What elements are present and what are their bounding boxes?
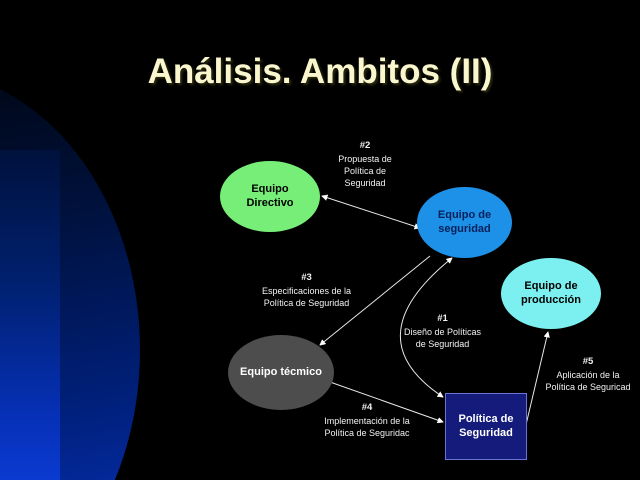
- slide-canvas: Análisis. Ambitos (II) EquipoDirectivo E…: [0, 0, 640, 480]
- edge-label-1: #1 Diseño de Políticas de Seguridad: [385, 313, 500, 350]
- edge-label-3: #3 Especificaciones de la Política de Se…: [244, 272, 369, 309]
- connector-2: [322, 196, 420, 228]
- node-equipo-tecnico[interactable]: Equipo técmico: [228, 335, 334, 410]
- edge-label-4: #4 Implementación de la Política de Segu…: [302, 402, 432, 439]
- node-label: Equipo deproducción: [521, 280, 581, 308]
- node-label: Equipo técmico: [240, 366, 322, 380]
- node-equipo-de-produccion[interactable]: Equipo deproducción: [501, 258, 601, 329]
- edge-label-2: #2 Propuesta de Política de Seguridad: [315, 140, 415, 189]
- node-label: Política deSeguridad: [458, 413, 513, 441]
- node-label: Equipo deseguridad: [438, 209, 491, 237]
- node-equipo-directivo[interactable]: EquipoDirectivo: [220, 161, 320, 232]
- node-equipo-de-seguridad[interactable]: Equipo deseguridad: [417, 187, 512, 258]
- node-label: EquipoDirectivo: [246, 183, 293, 211]
- node-politica-de-seguridad[interactable]: Política deSeguridad: [445, 393, 527, 460]
- edge-label-5: #5 Aplicación de la Política de Segurica…: [536, 356, 640, 393]
